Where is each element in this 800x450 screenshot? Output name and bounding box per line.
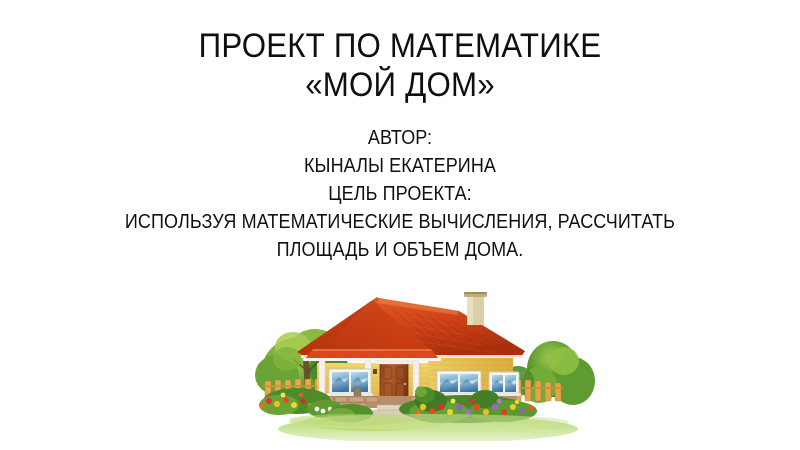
- foreground-grass: [289, 414, 569, 430]
- title-line-1: ПРОЕКТ ПО МАТЕМАТИКЕ: [32, 27, 768, 66]
- presentation-slide: ПРОЕКТ ПО МАТЕМАТИКЕ «МОЙ ДОМ» АВТОР: КЫ…: [0, 0, 800, 450]
- body-line-goal-label: ЦЕЛЬ ПРОЕКТА:: [40, 180, 760, 208]
- house-illustration: [253, 289, 603, 441]
- body-line-goal-text-2: ПЛОЩАДЬ И ОБЪЕМ ДОМА.: [40, 236, 760, 264]
- chimney: [464, 292, 487, 325]
- body-line-goal-text-1: ИСПОЛЬЗУЯ МАТЕМАТИЧЕСКИЕ ВЫЧИСЛЕНИЯ, РАС…: [40, 208, 760, 236]
- body-line-author-name: КЫНАЛЫ ЕКАТЕРИНА: [40, 152, 760, 180]
- left-window: [327, 369, 373, 396]
- body-line-author-label: АВТОР:: [40, 124, 760, 152]
- slide-body-text: АВТОР: КЫНАЛЫ ЕКАТЕРИНА ЦЕЛЬ ПРОЕКТА: ИС…: [0, 124, 800, 264]
- slide-title: ПРОЕКТ ПО МАТЕМАТИКЕ «МОЙ ДОМ»: [0, 27, 800, 105]
- title-line-2: «МОЙ ДОМ»: [32, 66, 768, 105]
- house-illustration-svg: [253, 289, 603, 441]
- porch-roof: [303, 349, 441, 361]
